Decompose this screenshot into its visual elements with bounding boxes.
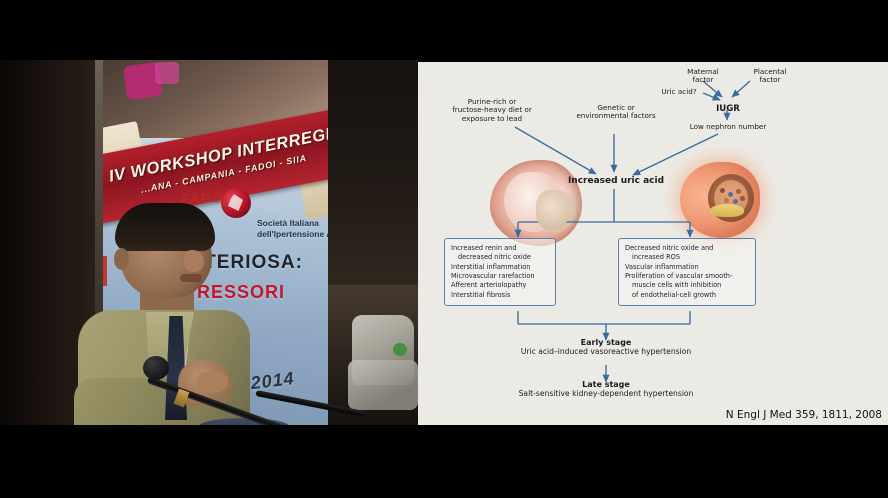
kidney-box-line: Interstitial inflammation xyxy=(451,263,549,272)
vessel-box-line: Proliferation of vascular smooth- xyxy=(625,272,749,281)
node-genetic-environmental: Genetic or environmental factors xyxy=(564,104,668,121)
speaker-hair xyxy=(115,203,215,251)
speaker-video-region: IV WORKSHOP INTERREGIONALE ...ANA - CAMP… xyxy=(0,60,418,425)
video-curtain xyxy=(325,60,418,285)
video-green-light xyxy=(393,343,407,356)
node-uric-acid-question: Uric acid? xyxy=(648,88,710,96)
kidney-box-line: Afferent arteriolopathy xyxy=(451,281,549,290)
node-purine-diet: Purine-rich or fructose-heavy diet or ex… xyxy=(432,98,552,123)
microphone-head xyxy=(143,356,169,380)
speaker-mouth xyxy=(180,274,202,282)
vessel-cell xyxy=(740,196,745,201)
vessel-box-line: Decreased nitric oxide and xyxy=(625,244,749,253)
kidney-box-line: Microvascular rarefaction xyxy=(451,272,549,281)
node-iugr: IUGR xyxy=(702,104,754,114)
society-line-1: Società Italiana xyxy=(257,218,319,228)
node-placental-factor: Placental factor xyxy=(730,68,810,85)
vessel-cell xyxy=(736,189,741,194)
vessel-box-line: muscle cells with inhibition xyxy=(625,281,749,290)
node-increased-uric-acid: Increased uric acid xyxy=(558,176,674,187)
node-low-nephron-number: Low nephron number xyxy=(666,123,790,131)
letterbox-bottom xyxy=(0,425,888,498)
presentation-slide: Maternal factor Placental factor Uric ac… xyxy=(418,62,888,425)
slide-diagram: Maternal factor Placental factor Uric ac… xyxy=(418,62,888,425)
video-chair-secondary xyxy=(348,360,418,410)
speaker-fingers xyxy=(196,372,228,392)
kidney-box-line: Interstitial fibrosis xyxy=(451,291,549,300)
vessel-effects-box: Decreased nitric oxide and increased ROS… xyxy=(618,238,756,306)
vessel-cell xyxy=(728,192,733,197)
vessel-box-line: of endothelial-cell growth xyxy=(625,291,749,300)
early-stage-text: Uric acid–induced vasoreactive hypertens… xyxy=(496,348,716,357)
letterbox-top xyxy=(0,0,888,60)
late-stage-text: Salt-sensitive kidney-dependent hyperten… xyxy=(488,390,724,399)
vessel-box-line: increased ROS xyxy=(625,253,749,262)
video-player-stage: IV WORKSHOP INTERREGIONALE ...ANA - CAMP… xyxy=(0,0,888,498)
banner-pink-accent-2 xyxy=(155,62,179,84)
vessel-box-line: Vascular inflammation xyxy=(625,263,749,272)
vessel-cell xyxy=(733,199,738,204)
kidney-pelvis xyxy=(536,190,570,230)
citation-text: N Engl J Med 359, 1811, 2008 xyxy=(726,409,882,421)
speaker-nose xyxy=(184,250,204,272)
vessel-plaque xyxy=(710,204,744,217)
kidney-box-line: Increased renin and xyxy=(451,244,549,253)
speaker-ear xyxy=(114,248,129,270)
vessel-cell xyxy=(720,188,725,193)
society-line-2: dell'Ipertensione Arteriosa xyxy=(257,229,328,239)
kidney-effects-box: Increased renin and decreased nitric oxi… xyxy=(444,238,556,306)
vessel-cell xyxy=(724,198,729,203)
banner-red-rule xyxy=(103,256,107,286)
kidney-box-line: decreased nitric oxide xyxy=(451,253,549,262)
